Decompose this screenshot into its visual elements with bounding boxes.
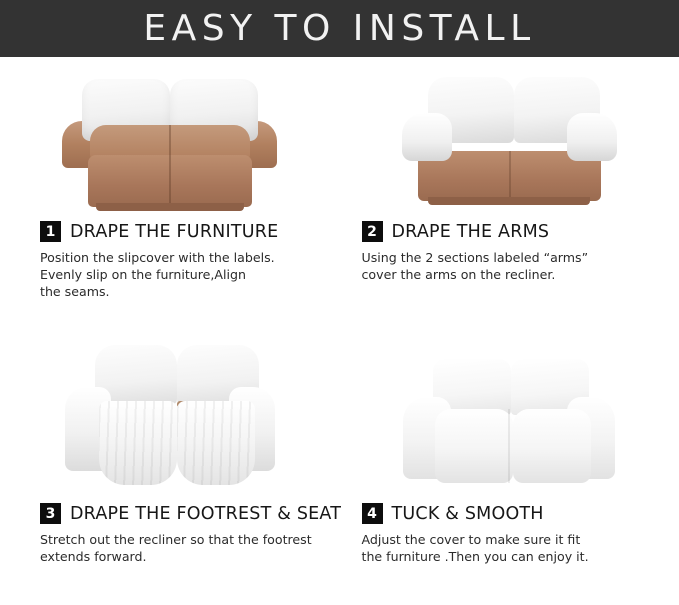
step-4-number-badge: 4 [362,503,383,524]
step-3-title: DRAPE THE FOOTREST & SEAT [70,504,341,524]
step-3-illustration [0,331,340,499]
step-4-illustration [340,331,679,499]
step-3-number-badge: 3 [40,503,61,524]
header-banner: EASY TO INSTALL [0,0,679,57]
step-2-description: Using the 2 sections labeled “arms” cove… [340,249,679,283]
step-3-heading: 3 DRAPE THE FOOTREST & SEAT [0,503,340,524]
slipcover-footrest-skirt-right [177,401,255,485]
step-2-heading: 2 DRAPE THE ARMS [340,221,679,242]
slipcover-footrest-skirt-left [99,401,177,485]
step-1-heading: 1 DRAPE THE FURNITURE [0,221,340,242]
step-2-illustration [340,57,679,217]
step-1-illustration [0,57,340,217]
sofa-center-seam [508,409,510,483]
step-4-title: TUCK & SMOOTH [392,504,544,524]
step-2-number-badge: 2 [362,221,383,242]
sofa-center-seam [169,125,171,207]
page-title: EASY TO INSTALL [143,8,535,49]
step-1-description: Position the slipcover with the labels. … [0,249,340,300]
sofa-base [428,197,590,205]
step-1-number-badge: 1 [40,221,61,242]
slipcover-arm-right [567,113,617,161]
step-4-heading: 4 TUCK & SMOOTH [340,503,679,524]
install-steps-grid: 1 DRAPE THE FURNITURE Position the slipc… [0,57,679,605]
step-card-4: 4 TUCK & SMOOTH Adjust the cover to make… [340,331,679,605]
step-card-3: 3 DRAPE THE FOOTREST & SEAT Stretch out … [0,331,340,605]
recliner-brown-seat-white-arms-and-back-icon [402,73,617,213]
recliner-white-ruffled-footrest-and-seat-icon [61,343,279,495]
step-card-2: 2 DRAPE THE ARMS Using the 2 sections la… [340,57,679,331]
step-2-title: DRAPE THE ARMS [392,222,550,242]
slipcover-seat-left [435,409,513,483]
recliner-fully-covered-smooth-white-icon [403,353,615,495]
recliner-brown-with-white-back-cushions-icon [62,73,277,213]
sofa-center-seam [509,151,511,201]
slipcover-seat-right [513,409,591,483]
step-3-description: Stretch out the recliner so that the foo… [0,531,340,565]
step-4-description: Adjust the cover to make sure it fit the… [340,531,679,565]
step-1-title: DRAPE THE FURNITURE [70,222,278,242]
step-card-1: 1 DRAPE THE FURNITURE Position the slipc… [0,57,340,331]
sofa-base [96,203,244,211]
slipcover-arm-left [402,113,452,161]
